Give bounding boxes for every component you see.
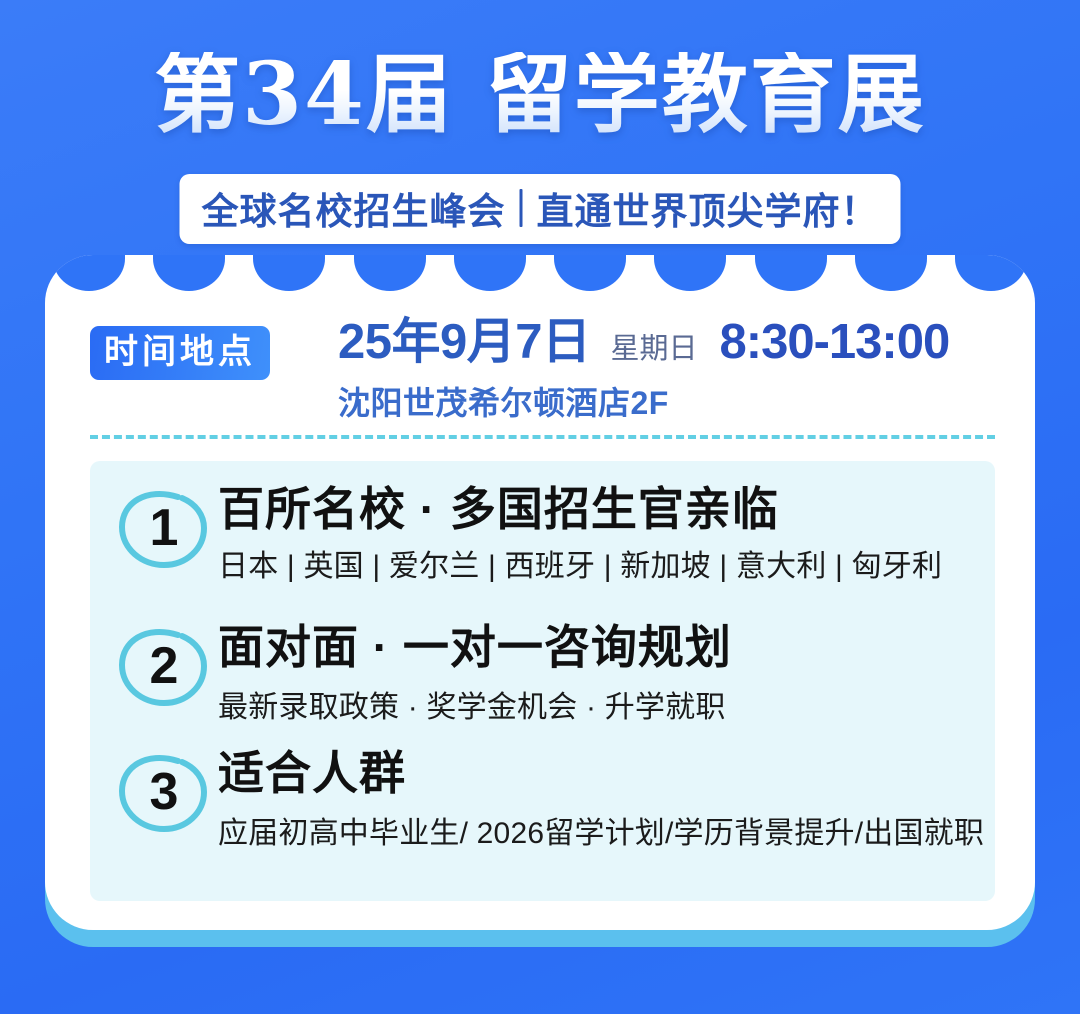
item-title: 百所名校 · 多国招生官亲临 — [218, 485, 988, 535]
hand-drawn-circle-icon: 1 — [116, 487, 212, 569]
info-card: 时间地点 25年9月7日 星期日 8:30-13:00 沈阳世茂希尔顿酒店2F … — [45, 255, 1035, 930]
scallop-notch — [654, 255, 726, 291]
subtitle-banner: 全球名校招生峰会 直通世界顶尖学府！ — [180, 174, 901, 244]
scallop-notch — [554, 255, 626, 291]
item-subtitle: 最新录取政策 · 奖学金机会 · 升学就职 — [218, 682, 988, 726]
scallop-notch — [253, 255, 325, 291]
hand-drawn-circle-icon: 3 — [116, 751, 212, 833]
event-weekday: 星期日 — [611, 335, 698, 364]
date-time-line: 25年9月7日 星期日 8:30-13:00 — [338, 318, 949, 367]
item-number: 3 — [116, 751, 212, 833]
event-time-range: 8:30-13:00 — [720, 318, 950, 367]
scallop-notch — [755, 255, 827, 291]
item-content: 适合人群 应届初高中毕业生/ 2026留学计划/学历背景提升/出国就职 — [218, 749, 988, 852]
scalloped-edge-decoration — [45, 255, 1035, 295]
item-number: 1 — [116, 487, 212, 569]
item-title: 适合人群 — [218, 749, 988, 799]
dashed-divider-icon — [90, 435, 995, 439]
item-subtitle: 日本 | 英国 | 爱尔兰 | 西班牙 | 新加坡 | 意大利 | 匈牙利 — [218, 541, 988, 585]
item-number: 2 — [116, 625, 212, 707]
event-venue: 沈阳世茂希尔顿酒店2F — [338, 378, 949, 424]
hand-drawn-circle-icon: 2 — [116, 625, 212, 707]
scallop-notch — [354, 255, 426, 291]
time-place-badge: 时间地点 — [90, 326, 270, 380]
scallop-notch — [153, 255, 225, 291]
item-title: 面对面 · 一对一咨询规划 — [218, 623, 988, 673]
subtitle-separator-icon — [520, 189, 523, 227]
scallop-notch — [955, 255, 1027, 291]
item-content: 百所名校 · 多国招生官亲临 日本 | 英国 | 爱尔兰 | 西班牙 | 新加坡… — [218, 485, 988, 585]
time-place-details: 25年9月7日 星期日 8:30-13:00 沈阳世茂希尔顿酒店2F — [338, 318, 949, 424]
page-title: 第34届 留学教育展 — [0, 52, 1080, 138]
subtitle-left-text: 全球名校招生峰会 — [202, 181, 506, 235]
highlights-panel: 1 百所名校 · 多国招生官亲临 日本 | 英国 | 爱尔兰 | 西班牙 | 新… — [90, 461, 995, 901]
scallop-notch — [855, 255, 927, 291]
item-subtitle: 应届初高中毕业生/ 2026留学计划/学历背景提升/出国就职 — [218, 808, 988, 852]
scallop-notch — [454, 255, 526, 291]
item-content: 面对面 · 一对一咨询规划 最新录取政策 · 奖学金机会 · 升学就职 — [218, 623, 988, 726]
subtitle-right-text: 直通世界顶尖学府！ — [537, 181, 879, 235]
poster-header: 第34届 留学教育展 全球名校招生峰会 直通世界顶尖学府！ — [0, 0, 1080, 255]
scallop-notch — [53, 255, 125, 291]
event-date: 25年9月7日 — [338, 318, 591, 367]
